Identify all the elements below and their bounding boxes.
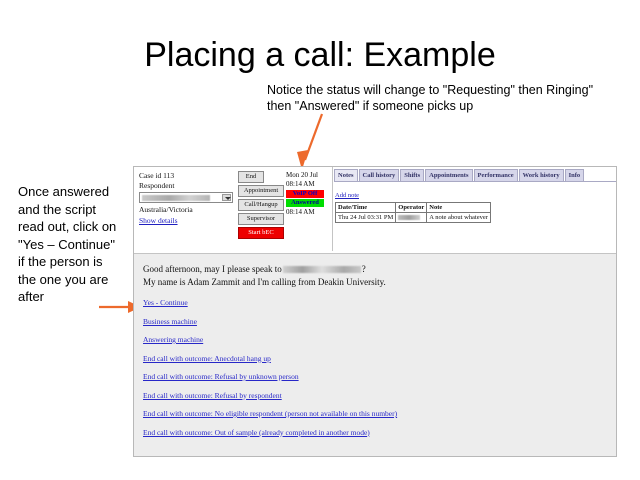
cell-datetime: Thu 24 Jul 03:31 PM — [336, 213, 396, 223]
case-info-block: Case id 113 Respondent Australia/Victori… — [139, 171, 237, 226]
script-line-1: Good afternoon, may I please speak to? — [143, 263, 616, 276]
panel-divider — [332, 167, 333, 251]
table-header-row: Date/Time Operator Note — [336, 203, 491, 213]
supervisor-button[interactable]: Supervisor — [238, 213, 284, 225]
respondent-label: Respondent — [139, 181, 237, 191]
script-line-1-after: ? — [362, 264, 366, 274]
link-end-call-out-of-sample[interactable]: End call with outcome: Out of sample (al… — [143, 428, 616, 438]
appointment-button[interactable]: Appointment — [238, 185, 284, 197]
tab-call-history[interactable]: Call history — [359, 169, 400, 181]
voip-status-badge[interactable]: VoIP Off — [286, 190, 324, 198]
tab-performance[interactable]: Performance — [474, 169, 518, 181]
notes-table: Date/Time Operator Note Thu 24 Jul 03:31… — [335, 202, 491, 223]
link-end-call-refusal-respondent[interactable]: End call with outcome: Refusal by respon… — [143, 391, 616, 401]
call-status-badge: Answered — [286, 199, 324, 207]
cell-note: A note about whatever — [427, 213, 491, 223]
current-date: Mon 20 Jul — [286, 171, 328, 180]
start-bec-button[interactable]: Start bEC — [238, 227, 284, 239]
annotation-status-change: Notice the status will change to "Reques… — [267, 82, 607, 114]
column-header-datetime: Date/Time — [336, 203, 396, 213]
page-title: Placing a call: Example — [0, 36, 640, 75]
chevron-down-icon[interactable] — [222, 194, 231, 201]
redacted-respondent-value — [142, 195, 210, 201]
script-area: Good afternoon, may I please speak to? M… — [134, 253, 616, 456]
tabs-panel: Notes Call history Shifts Appointments P… — [334, 169, 616, 251]
tab-strip: Notes Call history Shifts Appointments P… — [334, 169, 616, 181]
action-button-column: End Appointment Call/Hangup Supervisor S… — [238, 171, 284, 241]
script-outcome-links: Yes - Continue Business machine Answerin… — [143, 298, 616, 438]
link-business-machine[interactable]: Business machine — [143, 317, 616, 327]
notes-tab-body: Add note Date/Time Operator Note Thu 24 … — [334, 181, 616, 249]
call-hangup-button[interactable]: Call/Hangup — [238, 199, 284, 211]
column-header-operator: Operator — [396, 203, 427, 213]
case-id-label: Case id 113 — [139, 171, 237, 181]
show-details-link[interactable]: Show details — [139, 216, 178, 226]
tab-work-history[interactable]: Work history — [519, 169, 564, 181]
respondent-select[interactable] — [139, 192, 233, 203]
link-yes-continue[interactable]: Yes - Continue — [143, 298, 616, 308]
table-row[interactable]: Thu 24 Jul 03:31 PM A note about whateve… — [336, 213, 491, 223]
current-time-bottom: 08:14 AM — [286, 208, 328, 217]
timezone-label: Australia/Victoria — [139, 205, 237, 215]
column-header-note: Note — [427, 203, 491, 213]
tab-info[interactable]: Info — [565, 169, 585, 181]
link-end-call-anecdotal-hang-up[interactable]: End call with outcome: Anecdotal hang up — [143, 354, 616, 364]
link-end-call-refusal-unknown-person[interactable]: End call with outcome: Refusal by unknow… — [143, 372, 616, 382]
redacted-respondent-name — [283, 266, 361, 273]
annotation-yes-continue: Once answered and the script read out, c… — [18, 183, 123, 306]
redacted-operator — [398, 215, 420, 220]
arrow-to-status-badge — [296, 112, 326, 174]
tab-notes[interactable]: Notes — [334, 169, 358, 181]
tab-appointments[interactable]: Appointments — [425, 169, 472, 181]
add-note-link[interactable]: Add note — [335, 192, 359, 199]
cell-operator — [396, 213, 427, 223]
embedded-app-screenshot: Case id 113 Respondent Australia/Victori… — [133, 166, 617, 457]
end-button[interactable]: End — [238, 171, 264, 183]
script-line-1-before: Good afternoon, may I please speak to — [143, 264, 282, 274]
current-time-top: 08:14 AM — [286, 180, 328, 189]
app-header-area: Case id 113 Respondent Australia/Victori… — [134, 167, 616, 253]
status-column: Mon 20 Jul 08:14 AM VoIP Off Answered 08… — [286, 171, 328, 217]
link-end-call-no-eligible-respondent[interactable]: End call with outcome: No eligible respo… — [143, 409, 616, 419]
script-line-2: My name is Adam Zammit and I'm calling f… — [143, 276, 616, 289]
link-answering-machine[interactable]: Answering machine — [143, 335, 616, 345]
script-text: Good afternoon, may I please speak to? M… — [143, 263, 616, 288]
tab-shifts[interactable]: Shifts — [400, 169, 424, 181]
